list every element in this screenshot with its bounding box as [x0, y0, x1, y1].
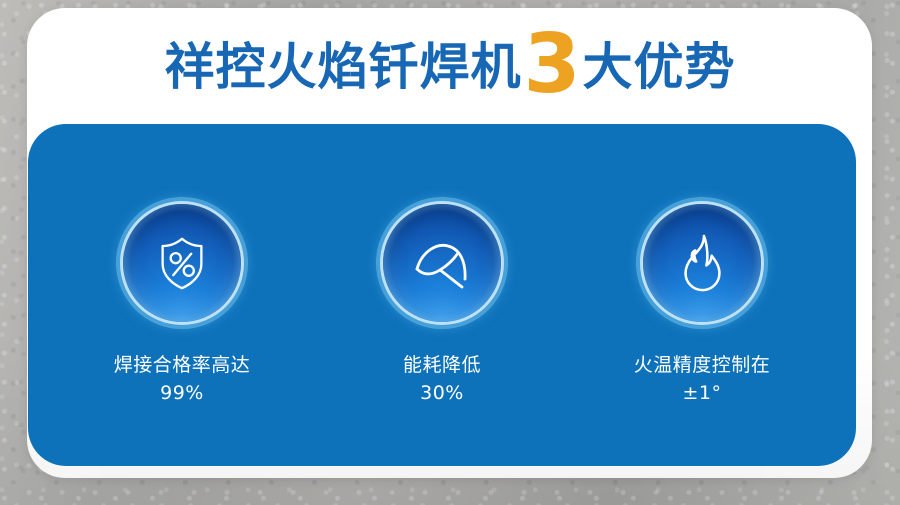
feature-caption-line1: 能耗降低 — [403, 354, 481, 376]
feature-caption-line1: 火温精度控制在 — [634, 354, 771, 376]
title-text-part2: 大优势 — [583, 38, 736, 96]
page-title: 祥控火焰钎焊机3大优势 — [0, 24, 900, 99]
badge-circle-3 — [643, 204, 761, 322]
feature-item-flame-precision[interactable]: 火温精度控制在 ±1° — [577, 124, 827, 407]
title-text-part1: 祥控火焰钎焊机 — [164, 38, 521, 96]
features-list: 焊接合格率高达 99% 能耗降低 30 — [28, 124, 856, 466]
feature-item-energy-saving[interactable]: 能耗降低 30% — [317, 124, 567, 407]
feature-item-weld-pass-rate[interactable]: 焊接合格率高达 99% — [57, 124, 307, 407]
badge-circle-2 — [383, 204, 501, 322]
title-highlight-number: 3 — [523, 17, 580, 112]
features-panel: 焊接合格率高达 99% 能耗降低 30 — [28, 124, 856, 466]
feature-caption-line2: ±1° — [634, 380, 771, 408]
feature-caption-1: 焊接合格率高达 99% — [114, 352, 251, 407]
feature-caption-line1: 焊接合格率高达 — [114, 354, 251, 376]
feature-caption-2: 能耗降低 30% — [403, 352, 481, 407]
badge-circle-1 — [123, 204, 241, 322]
shield-percent-icon — [151, 232, 213, 294]
feature-caption-3: 火温精度控制在 ±1° — [634, 352, 771, 407]
feature-caption-line2: 30% — [403, 380, 481, 408]
leaf-icon — [410, 231, 474, 295]
flame-icon — [673, 232, 731, 294]
feature-caption-line2: 99% — [114, 380, 251, 408]
poster-stage: 祥控火焰钎焊机3大优势 焊接合格率高达 — [0, 0, 900, 505]
